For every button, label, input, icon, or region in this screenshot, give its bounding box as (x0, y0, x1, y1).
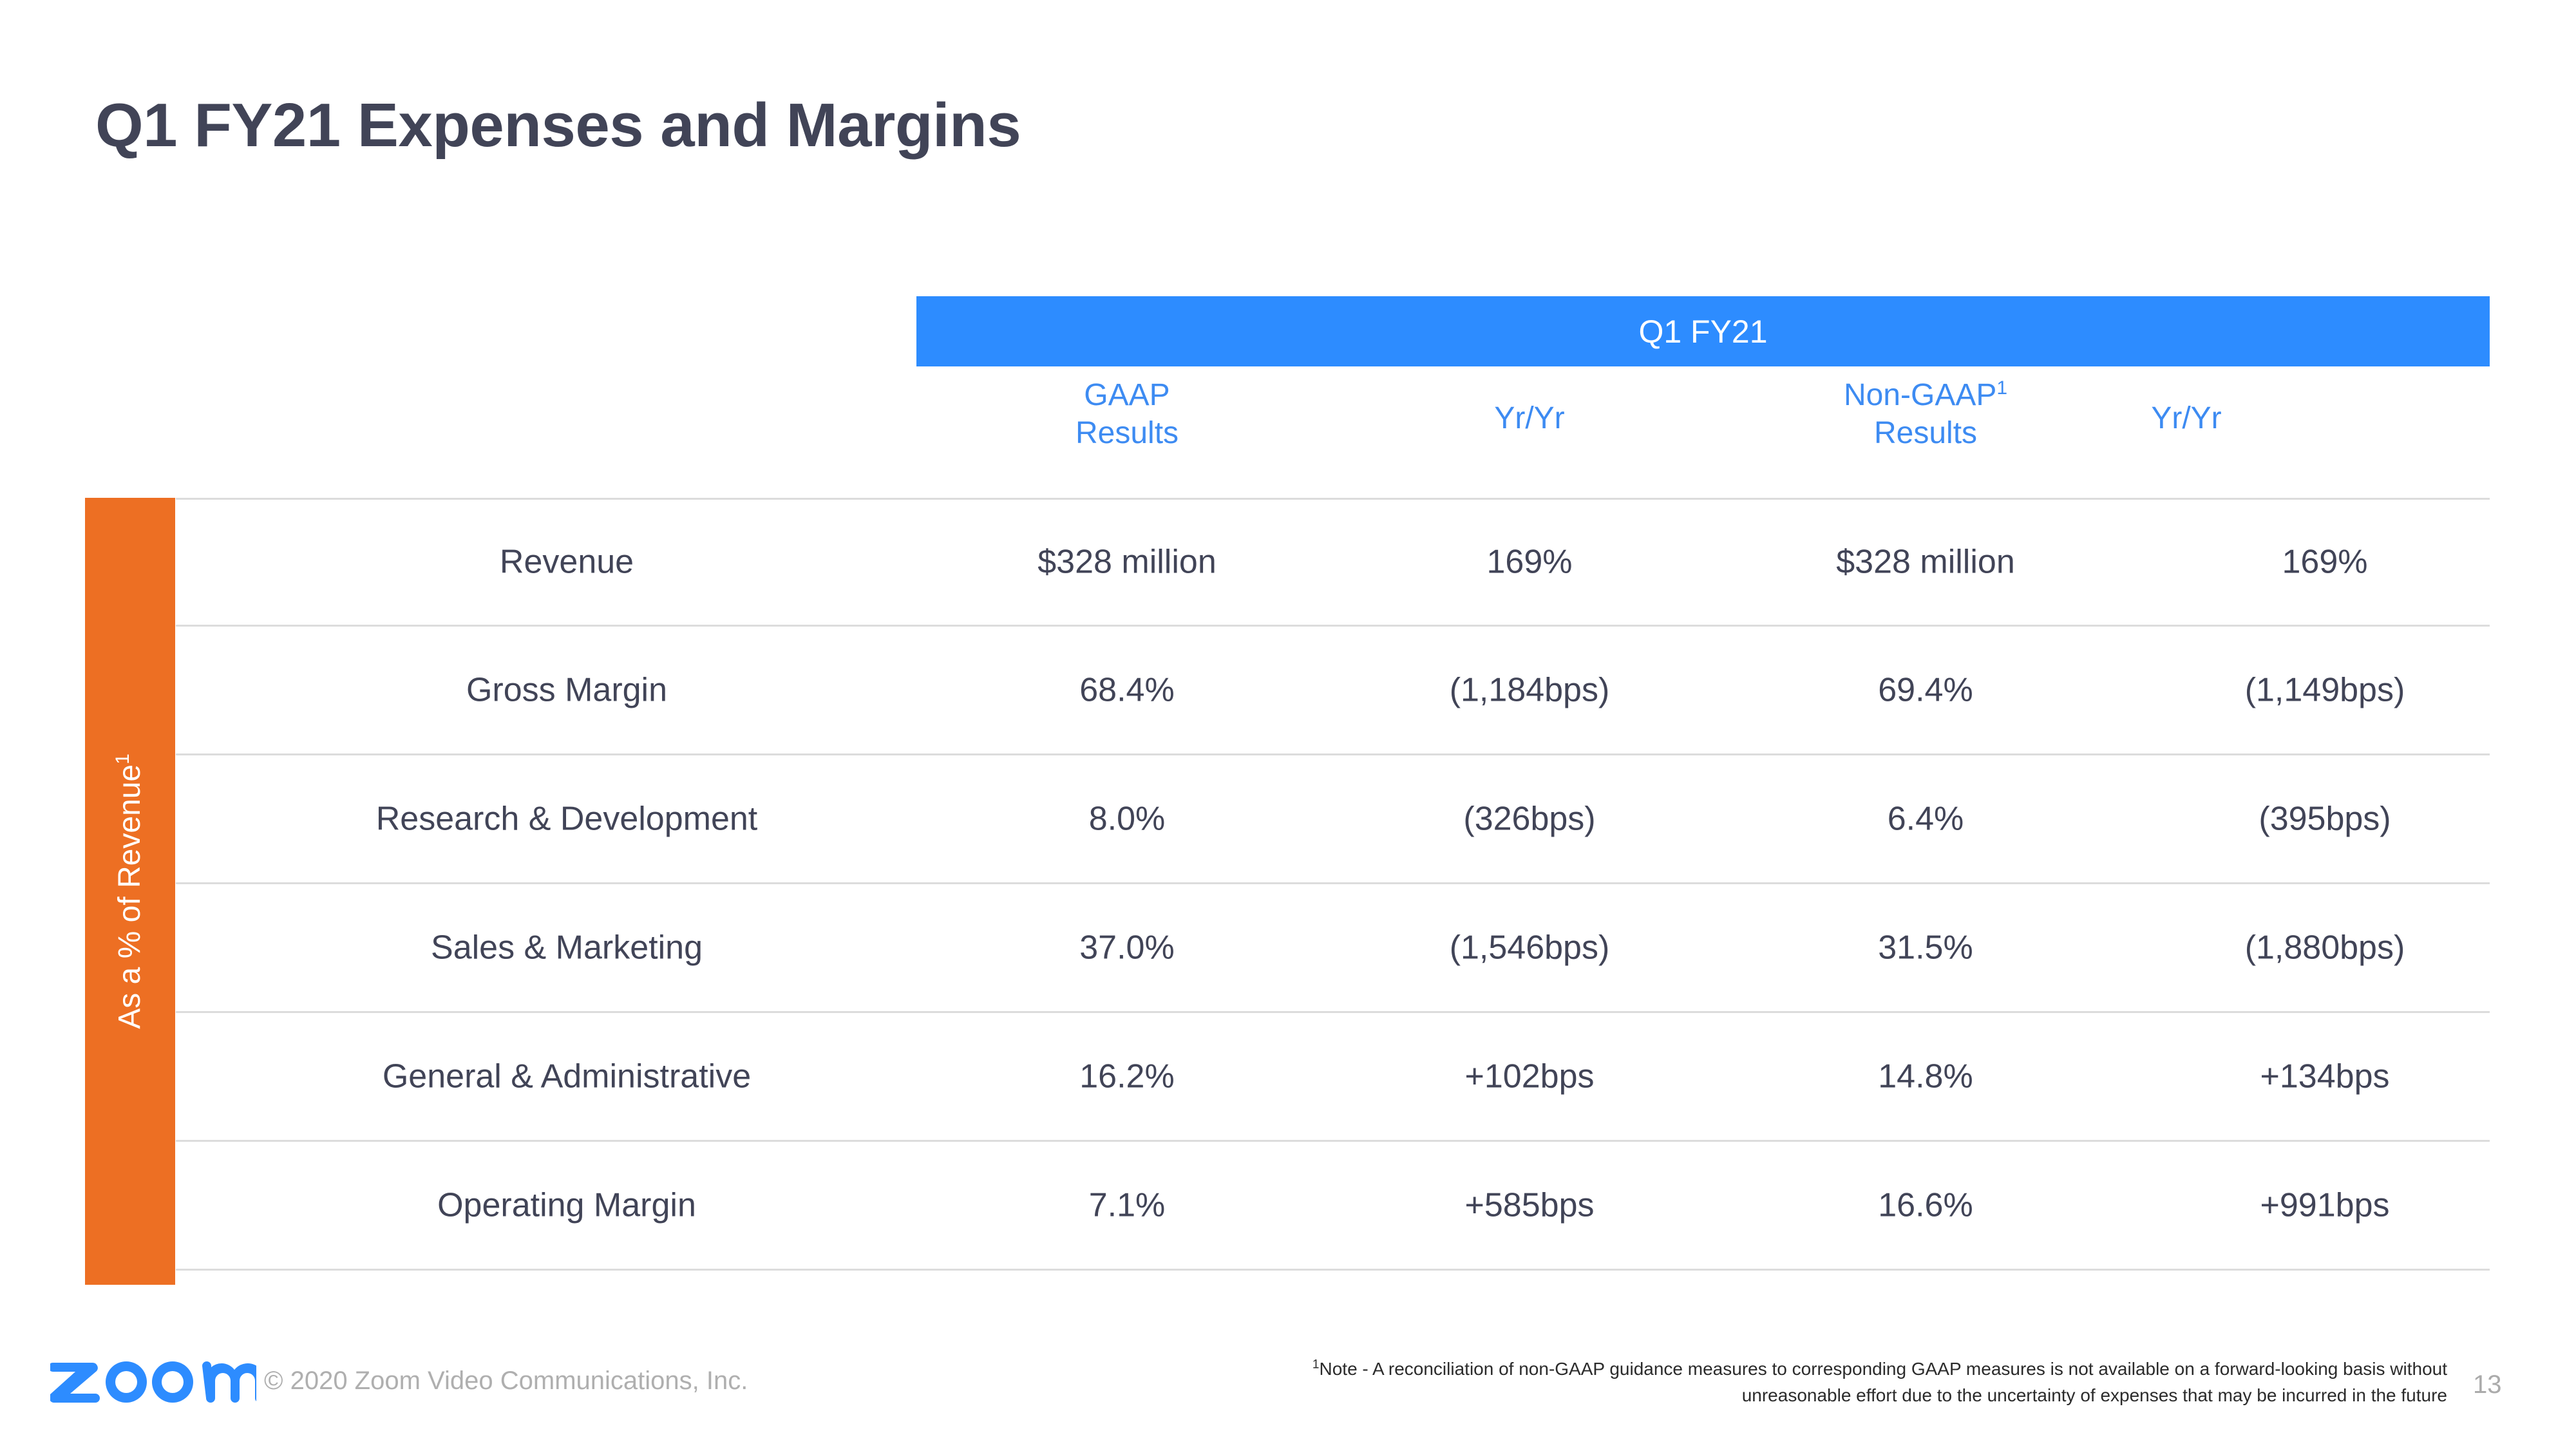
table-row: Research & Development 8.0% (326bps) 6.4… (176, 755, 2490, 884)
as-percent-of-revenue-band: As a % of Revenue1 (85, 498, 175, 1285)
table-row: Revenue $328 million 169% $328 million 1… (176, 498, 2490, 627)
cell-gaap-yryr: 169% (1375, 544, 1684, 580)
cell-nongaap-result: 14.8% (1771, 1058, 2080, 1095)
table-body: Revenue $328 million 169% $328 million 1… (176, 498, 2490, 1271)
slide-footer: © 2020 Zoom Video Communications, Inc. 1… (0, 1352, 2576, 1449)
column-header-yryr1-line1: Yr/Yr (1494, 401, 1564, 435)
table-row: Gross Margin 68.4% (1,184bps) 69.4% (1,1… (176, 627, 2490, 755)
column-header-nongaap-yryr: Yr/Yr (2032, 400, 2341, 438)
column-header-gaap-line1: GAAP (1084, 378, 1170, 412)
cell-nongaap-result: 69.4% (1771, 672, 2080, 708)
cell-gaap-yryr: +585bps (1375, 1187, 1684, 1224)
column-header-nongaap-line1: Non-GAAP (1844, 378, 1996, 412)
cell-nongaap-yryr: +991bps (2170, 1187, 2479, 1224)
table-row: Sales & Marketing 37.0% (1,546bps) 31.5%… (176, 884, 2490, 1013)
as-percent-of-revenue-text: As a % of Revenue (113, 764, 147, 1029)
column-header-gaap-yryr: Yr/Yr (1375, 400, 1684, 438)
cell-gaap-result: 8.0% (972, 800, 1282, 837)
cell-nongaap-yryr: (395bps) (2170, 800, 2479, 837)
row-label: Research & Development (213, 800, 921, 837)
cell-gaap-yryr: (1,546bps) (1375, 929, 1684, 966)
cell-gaap-yryr: (326bps) (1375, 800, 1684, 837)
cell-nongaap-yryr: +134bps (2170, 1058, 2479, 1095)
cell-nongaap-result: $328 million (1771, 544, 2080, 580)
row-label: Revenue (213, 544, 921, 580)
row-label: Sales & Marketing (213, 929, 921, 966)
footnote-superscript: 1 (1312, 1358, 1320, 1372)
cell-gaap-result: $328 million (972, 544, 1282, 580)
zoom-logo-icon (50, 1354, 256, 1405)
cell-nongaap-yryr: 169% (2170, 544, 2479, 580)
cell-nongaap-result: 31.5% (1771, 929, 2080, 966)
column-header-nongaap-line2: Results (1874, 416, 1977, 450)
cell-gaap-result: 7.1% (972, 1187, 1282, 1224)
page-title: Q1 FY21 Expenses and Margins (95, 90, 1021, 161)
as-percent-of-revenue-label: As a % of Revenue1 (115, 753, 146, 1029)
column-header-gaap-line2: Results (1075, 416, 1179, 450)
cell-gaap-result: 37.0% (972, 929, 1282, 966)
cell-gaap-result: 68.4% (972, 672, 1282, 708)
column-header-gaap-results: GAAP Results (972, 377, 1282, 452)
row-label: Operating Margin (213, 1187, 921, 1224)
cell-gaap-result: 16.2% (972, 1058, 1282, 1095)
cell-nongaap-yryr: (1,149bps) (2170, 672, 2479, 708)
cell-nongaap-yryr: (1,880bps) (2170, 929, 2479, 966)
column-header-nongaap-superscript: 1 (1996, 377, 2007, 399)
copyright-text: © 2020 Zoom Video Communications, Inc. (264, 1367, 748, 1396)
results-table: Q1 FY21 GAAP Results Yr/Yr Non-GAAP1 Res… (85, 296, 2490, 1288)
as-percent-of-revenue-superscript: 1 (112, 753, 133, 764)
table-column-headers: GAAP Results Yr/Yr Non-GAAP1 Results Yr/… (85, 377, 2490, 493)
table-banner-label: Q1 FY21 (916, 316, 2490, 348)
row-label: General & Administrative (213, 1058, 921, 1095)
cell-nongaap-result: 6.4% (1771, 800, 2080, 837)
footnote-text: 1Note - A reconciliation of non-GAAP gui… (1211, 1356, 2447, 1408)
column-header-yryr2-line1: Yr/Yr (2151, 401, 2221, 435)
page-number: 13 (2473, 1370, 2502, 1399)
cell-gaap-yryr: (1,184bps) (1375, 672, 1684, 708)
table-row: General & Administrative 16.2% +102bps 1… (176, 1013, 2490, 1142)
footnote-body: Note - A reconciliation of non-GAAP guid… (1320, 1359, 2448, 1405)
cell-gaap-yryr: +102bps (1375, 1058, 1684, 1095)
table-banner: Q1 FY21 (916, 296, 2490, 366)
cell-nongaap-result: 16.6% (1771, 1187, 2080, 1224)
row-label: Gross Margin (213, 672, 921, 708)
slide-canvas: Q1 FY21 Expenses and Margins Q1 FY21 GAA… (0, 0, 2576, 1449)
table-row: Operating Margin 7.1% +585bps 16.6% +991… (176, 1142, 2490, 1271)
